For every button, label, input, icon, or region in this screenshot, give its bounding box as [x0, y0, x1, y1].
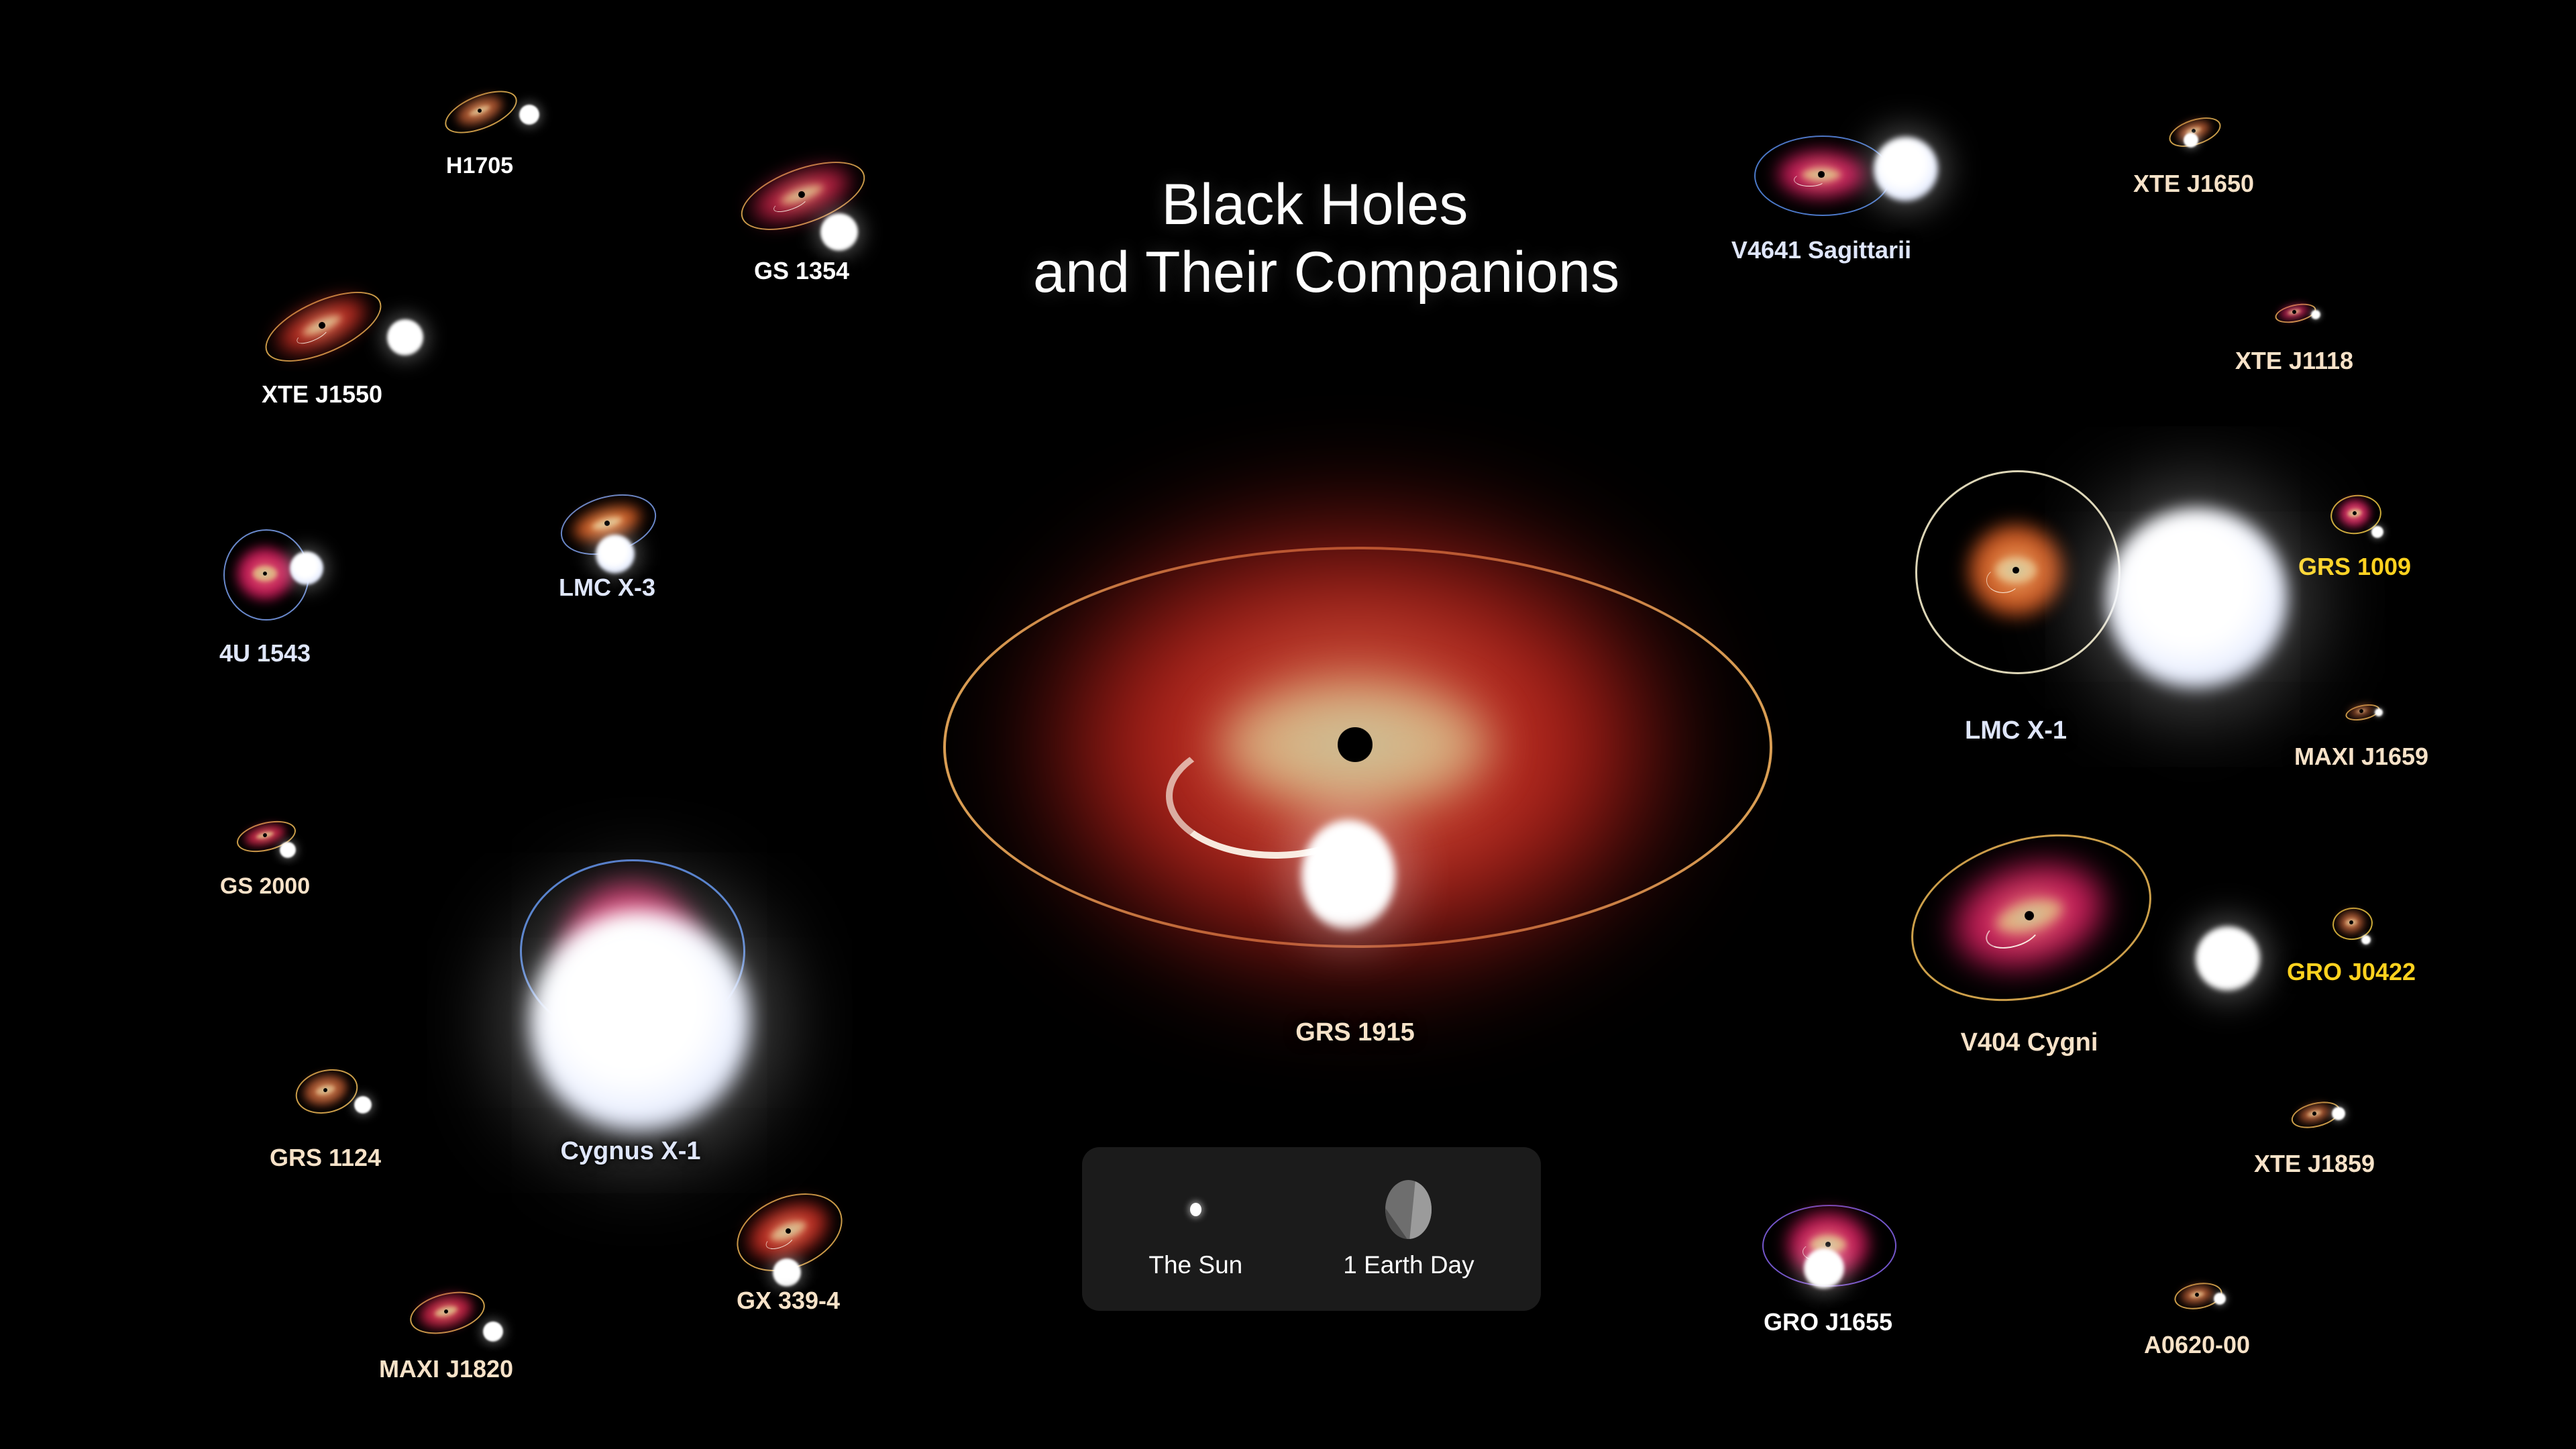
system-art-gx339_4 — [721, 1181, 855, 1281]
system-label-maxi_j1659: MAXI J1659 — [2294, 743, 2428, 771]
system-art-xte_j1859 — [2277, 1087, 2351, 1140]
system-a0620_00[interactable]: A0620-00 — [2160, 1268, 2234, 1322]
system-v4641[interactable]: V4641 Sagittarii — [1744, 114, 1898, 235]
system-label-v404_cygni: V404 Cygni — [1961, 1028, 2098, 1057]
system-label-cygnus_x1: Cygnus X-1 — [560, 1137, 700, 1166]
system-art-v4641 — [1744, 114, 1898, 235]
system-label-a0620_00: A0620-00 — [2144, 1331, 2250, 1359]
system-art-xte_j1118 — [2264, 292, 2324, 332]
system-art-4u1543 — [208, 520, 322, 627]
system-v404_cygni[interactable]: V404 Cygni — [1878, 815, 2180, 1016]
starfield-canvas: Black Holes and Their Companions H1705GS… — [0, 0, 2576, 1449]
system-label-gs1354: GS 1354 — [754, 257, 849, 285]
system-maxi_j1659[interactable]: MAXI J1659 — [2334, 694, 2388, 728]
sun-dot-icon — [1190, 1179, 1201, 1240]
accretion-disk-lmc_x1 — [1969, 525, 2063, 616]
system-label-gx339_4: GX 339-4 — [737, 1287, 840, 1315]
companion-star-gro_j1655 — [1804, 1248, 1844, 1289]
system-label-lmc_x1: LMC X-1 — [1965, 716, 2067, 745]
companion-star-cygnus_x1 — [529, 911, 751, 1132]
photon-ring-arc — [1986, 568, 2020, 592]
legend-item-earth-day: 1 Earth Day — [1343, 1179, 1474, 1279]
system-label-h1705: H1705 — [446, 153, 513, 179]
companion-star-xte_j1859 — [2332, 1107, 2345, 1120]
system-grs1915[interactable]: GRS 1915 — [939, 463, 1771, 1026]
accretion-disk-v4641 — [1778, 151, 1865, 198]
companion-star-v4641 — [1874, 137, 1938, 201]
system-grs1009[interactable]: GRS 1009 — [2318, 483, 2392, 543]
companion-star-lmc_x1 — [2106, 508, 2288, 689]
title-line-1: Black Holes — [1033, 171, 1597, 239]
system-art-grs1915 — [939, 463, 1771, 1026]
companion-star-xte_j1118 — [2311, 310, 2320, 319]
companion-star-h1705 — [519, 105, 539, 125]
system-h1705[interactable]: H1705 — [439, 80, 520, 141]
system-label-gro_j1655: GRO J1655 — [1764, 1308, 1892, 1336]
companion-star-gro_j0422 — [2361, 935, 2371, 945]
system-art-gs1354 — [735, 144, 869, 245]
system-gs1354[interactable]: GS 1354 — [735, 144, 869, 245]
system-gro_j1655[interactable]: GRO J1655 — [1744, 1187, 1912, 1301]
system-art-lmc_x1 — [1835, 429, 2197, 711]
system-label-gs2000: GS 2000 — [220, 873, 310, 900]
system-art-a0620_00 — [2160, 1268, 2234, 1322]
system-lmc_x1[interactable]: LMC X-1 — [1835, 429, 2197, 711]
system-xte_j1550[interactable]: XTE J1550 — [255, 278, 389, 372]
system-grs1124[interactable]: GRS 1124 — [282, 1057, 369, 1124]
system-art-gs2000 — [228, 805, 302, 865]
companion-star-xte_j1650 — [2184, 133, 2198, 148]
companion-star-lmc_x3 — [596, 535, 635, 574]
system-cygnus_x1[interactable]: Cygnus X-1 — [402, 761, 859, 1137]
system-4u1543[interactable]: 4U 1543 — [208, 520, 322, 627]
system-lmc_x3[interactable]: LMC X-3 — [550, 480, 664, 567]
photon-ring-arc — [1794, 173, 1825, 186]
accretion-disk-4u1543 — [237, 547, 293, 600]
companion-star-4u1543 — [290, 551, 323, 585]
system-label-4u1543: 4U 1543 — [219, 639, 311, 667]
system-art-cygnus_x1 — [402, 761, 859, 1137]
system-art-gro_j1655 — [1744, 1187, 1912, 1301]
system-xte_j1859[interactable]: XTE J1859 — [2277, 1087, 2351, 1140]
companion-star-maxi_j1820 — [483, 1322, 503, 1342]
legend-item-sun: The Sun — [1148, 1179, 1242, 1279]
system-maxi_j1820[interactable]: MAXI J1820 — [396, 1275, 496, 1348]
system-art-gro_j0422 — [2321, 899, 2381, 946]
legend-label-sun: The Sun — [1148, 1251, 1242, 1279]
system-art-h1705 — [439, 80, 520, 141]
system-label-grs1915: GRS 1915 — [1295, 1018, 1414, 1047]
system-label-grs1124: GRS 1124 — [270, 1144, 381, 1172]
system-xte_j1118[interactable]: XTE J1118 — [2264, 292, 2324, 332]
companion-star-grs1009 — [2371, 526, 2383, 538]
system-art-grs1009 — [2318, 483, 2392, 543]
companion-star-grs1124 — [354, 1096, 372, 1114]
system-art-maxi_j1659 — [2334, 694, 2388, 728]
title-line-2: and Their Companions — [1033, 239, 1597, 307]
system-label-xte_j1118: XTE J1118 — [2235, 347, 2353, 375]
system-label-xte_j1550: XTE J1550 — [262, 380, 382, 409]
companion-star-gs2000 — [280, 842, 296, 858]
system-art-xte_j1650 — [2157, 104, 2231, 158]
system-label-xte_j1650: XTE J1650 — [2133, 170, 2254, 198]
system-art-v404_cygni — [1878, 815, 2180, 1016]
system-label-lmc_x3: LMC X-3 — [559, 574, 655, 602]
companion-star-maxi_j1659 — [2375, 708, 2383, 716]
companion-star-a0620_00 — [2214, 1293, 2226, 1305]
companion-star-v404_cygni — [2196, 926, 2260, 991]
scale-legend: The Sun 1 Earth Day — [1082, 1147, 1541, 1311]
earth-day-icon — [1385, 1179, 1432, 1240]
system-label-grs1009: GRS 1009 — [2298, 553, 2411, 581]
system-gro_j0422[interactable]: GRO J0422 — [2321, 899, 2381, 946]
companion-star-gs1354 — [820, 213, 858, 251]
system-art-xte_j1550 — [255, 278, 389, 372]
system-gx339_4[interactable]: GX 339-4 — [721, 1181, 855, 1281]
legend-label-earth-day: 1 Earth Day — [1343, 1251, 1474, 1279]
companion-star-gx339_4 — [773, 1258, 801, 1287]
system-label-gro_j0422: GRO J0422 — [2287, 958, 2416, 986]
companion-star-xte_j1550 — [387, 319, 423, 356]
system-art-lmc_x3 — [550, 480, 664, 567]
system-label-v4641: V4641 Sagittarii — [1731, 236, 1911, 264]
system-gs2000[interactable]: GS 2000 — [228, 805, 302, 865]
system-art-maxi_j1820 — [396, 1275, 496, 1348]
system-xte_j1650[interactable]: XTE J1650 — [2157, 104, 2231, 158]
system-art-grs1124 — [282, 1057, 369, 1124]
system-label-maxi_j1820: MAXI J1820 — [379, 1355, 513, 1383]
companion-star-grs1915 — [1301, 820, 1395, 930]
system-label-xte_j1859: XTE J1859 — [2254, 1150, 2375, 1178]
page-title: Black Holes and Their Companions — [1033, 171, 1597, 307]
